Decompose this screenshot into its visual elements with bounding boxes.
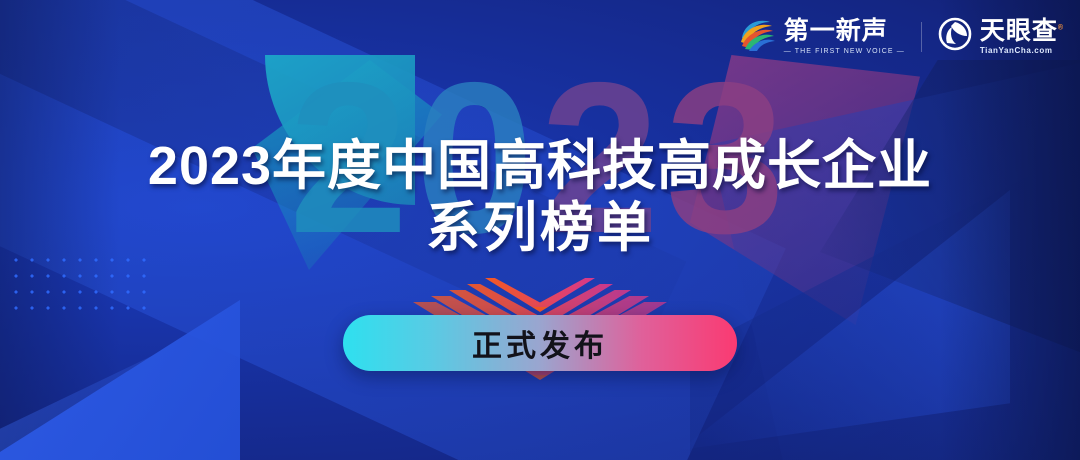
- logo-divider: [921, 22, 922, 52]
- logo-tianyancha[interactable]: 天眼查® TianYanCha.com: [938, 17, 1064, 56]
- headline-line-1: 2023年度中国高科技高成长企业: [0, 136, 1080, 198]
- logo-diyixinsheng-text: 第一新声 — THE FIRST NEW VOICE —: [784, 19, 905, 55]
- logo-tianyancha-name: 天眼查®: [980, 19, 1064, 44]
- logo-diyixinsheng-tagline: — THE FIRST NEW VOICE —: [784, 48, 905, 55]
- logo-diyixinsheng[interactable]: 第一新声 — THE FIRST NEW VOICE —: [736, 16, 905, 57]
- headline-line-2: 系列榜单: [0, 198, 1080, 260]
- release-status-label: 正式发布: [472, 321, 608, 365]
- logo-tianyancha-text: 天眼查® TianYanCha.com: [980, 19, 1064, 55]
- logo-tianyancha-url: TianYanCha.com: [980, 47, 1064, 55]
- page-title: 2023年度中国高科技高成长企业 系列榜单: [0, 136, 1080, 259]
- logo-group: 第一新声 — THE FIRST NEW VOICE — 天眼查® TianYa…: [736, 16, 1064, 57]
- trademark-icon: ®: [1058, 24, 1064, 31]
- swirl-ribbon-icon: [736, 16, 776, 57]
- logo-diyixinsheng-name: 第一新声: [784, 19, 905, 44]
- release-status-badge[interactable]: 正式发布: [343, 315, 737, 371]
- chevron-arrow: [485, 278, 595, 312]
- camera-aperture-eye-icon: [938, 17, 972, 56]
- promo-banner: 2023 2023年度中国高科技高成长企业 系列榜单 正式发布 第一新声: [0, 0, 1080, 460]
